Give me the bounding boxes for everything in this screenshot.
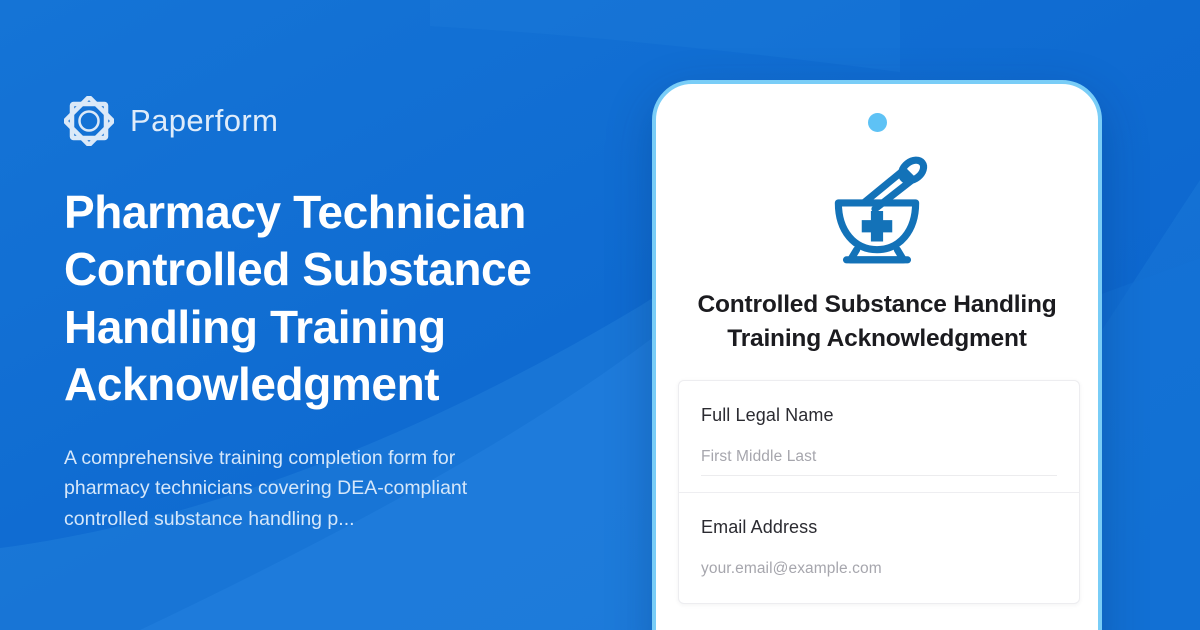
share-card-canvas: Paperform Pharmacy Technician Controlled…	[0, 0, 1200, 630]
hero-description: A comprehensive training completion form…	[64, 443, 534, 534]
form-field-full-legal-name: Full Legal Name First Middle Last	[679, 381, 1079, 492]
phone-mockup: Controlled Substance Handling Training A…	[652, 80, 1102, 630]
full-legal-name-input[interactable]: First Middle Last	[701, 448, 1057, 476]
field-label: Full Legal Name	[701, 405, 1057, 426]
field-label: Email Address	[701, 517, 1057, 538]
paperform-logo-icon	[64, 96, 114, 146]
email-address-input[interactable]: your.email@example.com	[701, 560, 1057, 587]
page-title: Pharmacy Technician Controlled Substance…	[64, 184, 604, 413]
brand-lockup: Paperform	[64, 96, 624, 146]
form-field-email-address: Email Address your.email@example.com	[679, 492, 1079, 603]
form-card: Full Legal Name First Middle Last Email …	[678, 380, 1080, 604]
hero-content: Paperform Pharmacy Technician Controlled…	[64, 0, 624, 630]
camera-dot-icon	[868, 113, 887, 132]
mortar-and-pestle-icon	[816, 148, 938, 270]
brand-name: Paperform	[130, 103, 278, 139]
form-title: Controlled Substance Handling Training A…	[690, 288, 1064, 356]
